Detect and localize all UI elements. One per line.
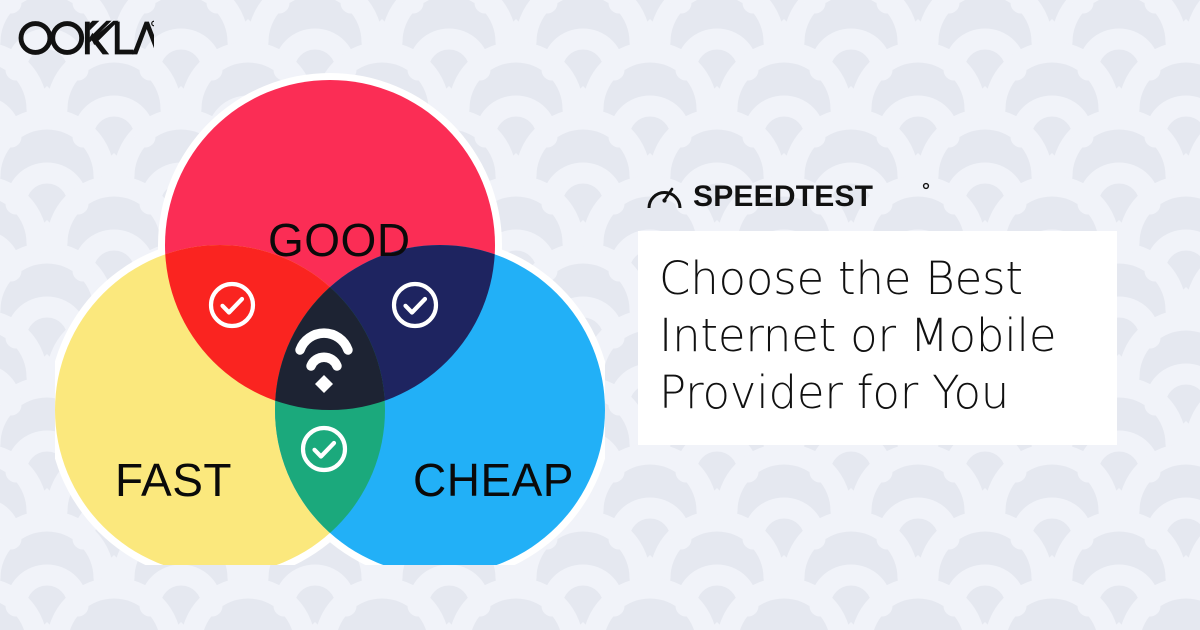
speedtest-wordmark: SPEEDTEST [693,180,873,212]
headline-card: Choose the Best Internet or Mobile Provi… [638,231,1117,445]
promo-graphic: GOOD FAST CHEAP SPEEDTEST Choose the Bes… [0,0,1200,630]
ookla-logo[interactable] [14,17,154,59]
venn-label-good: GOOD [268,217,411,263]
registered-mark-icon [924,184,929,189]
venn-label-cheap: CHEAP [413,457,574,503]
venn-label-fast: FAST [115,457,232,503]
speedtest-logo[interactable]: SPEEDTEST [645,178,935,212]
speedometer-icon [649,189,680,208]
venn-diagram: GOOD FAST CHEAP [55,65,605,565]
page-title: Choose the Best Internet or Mobile Provi… [659,250,1099,421]
